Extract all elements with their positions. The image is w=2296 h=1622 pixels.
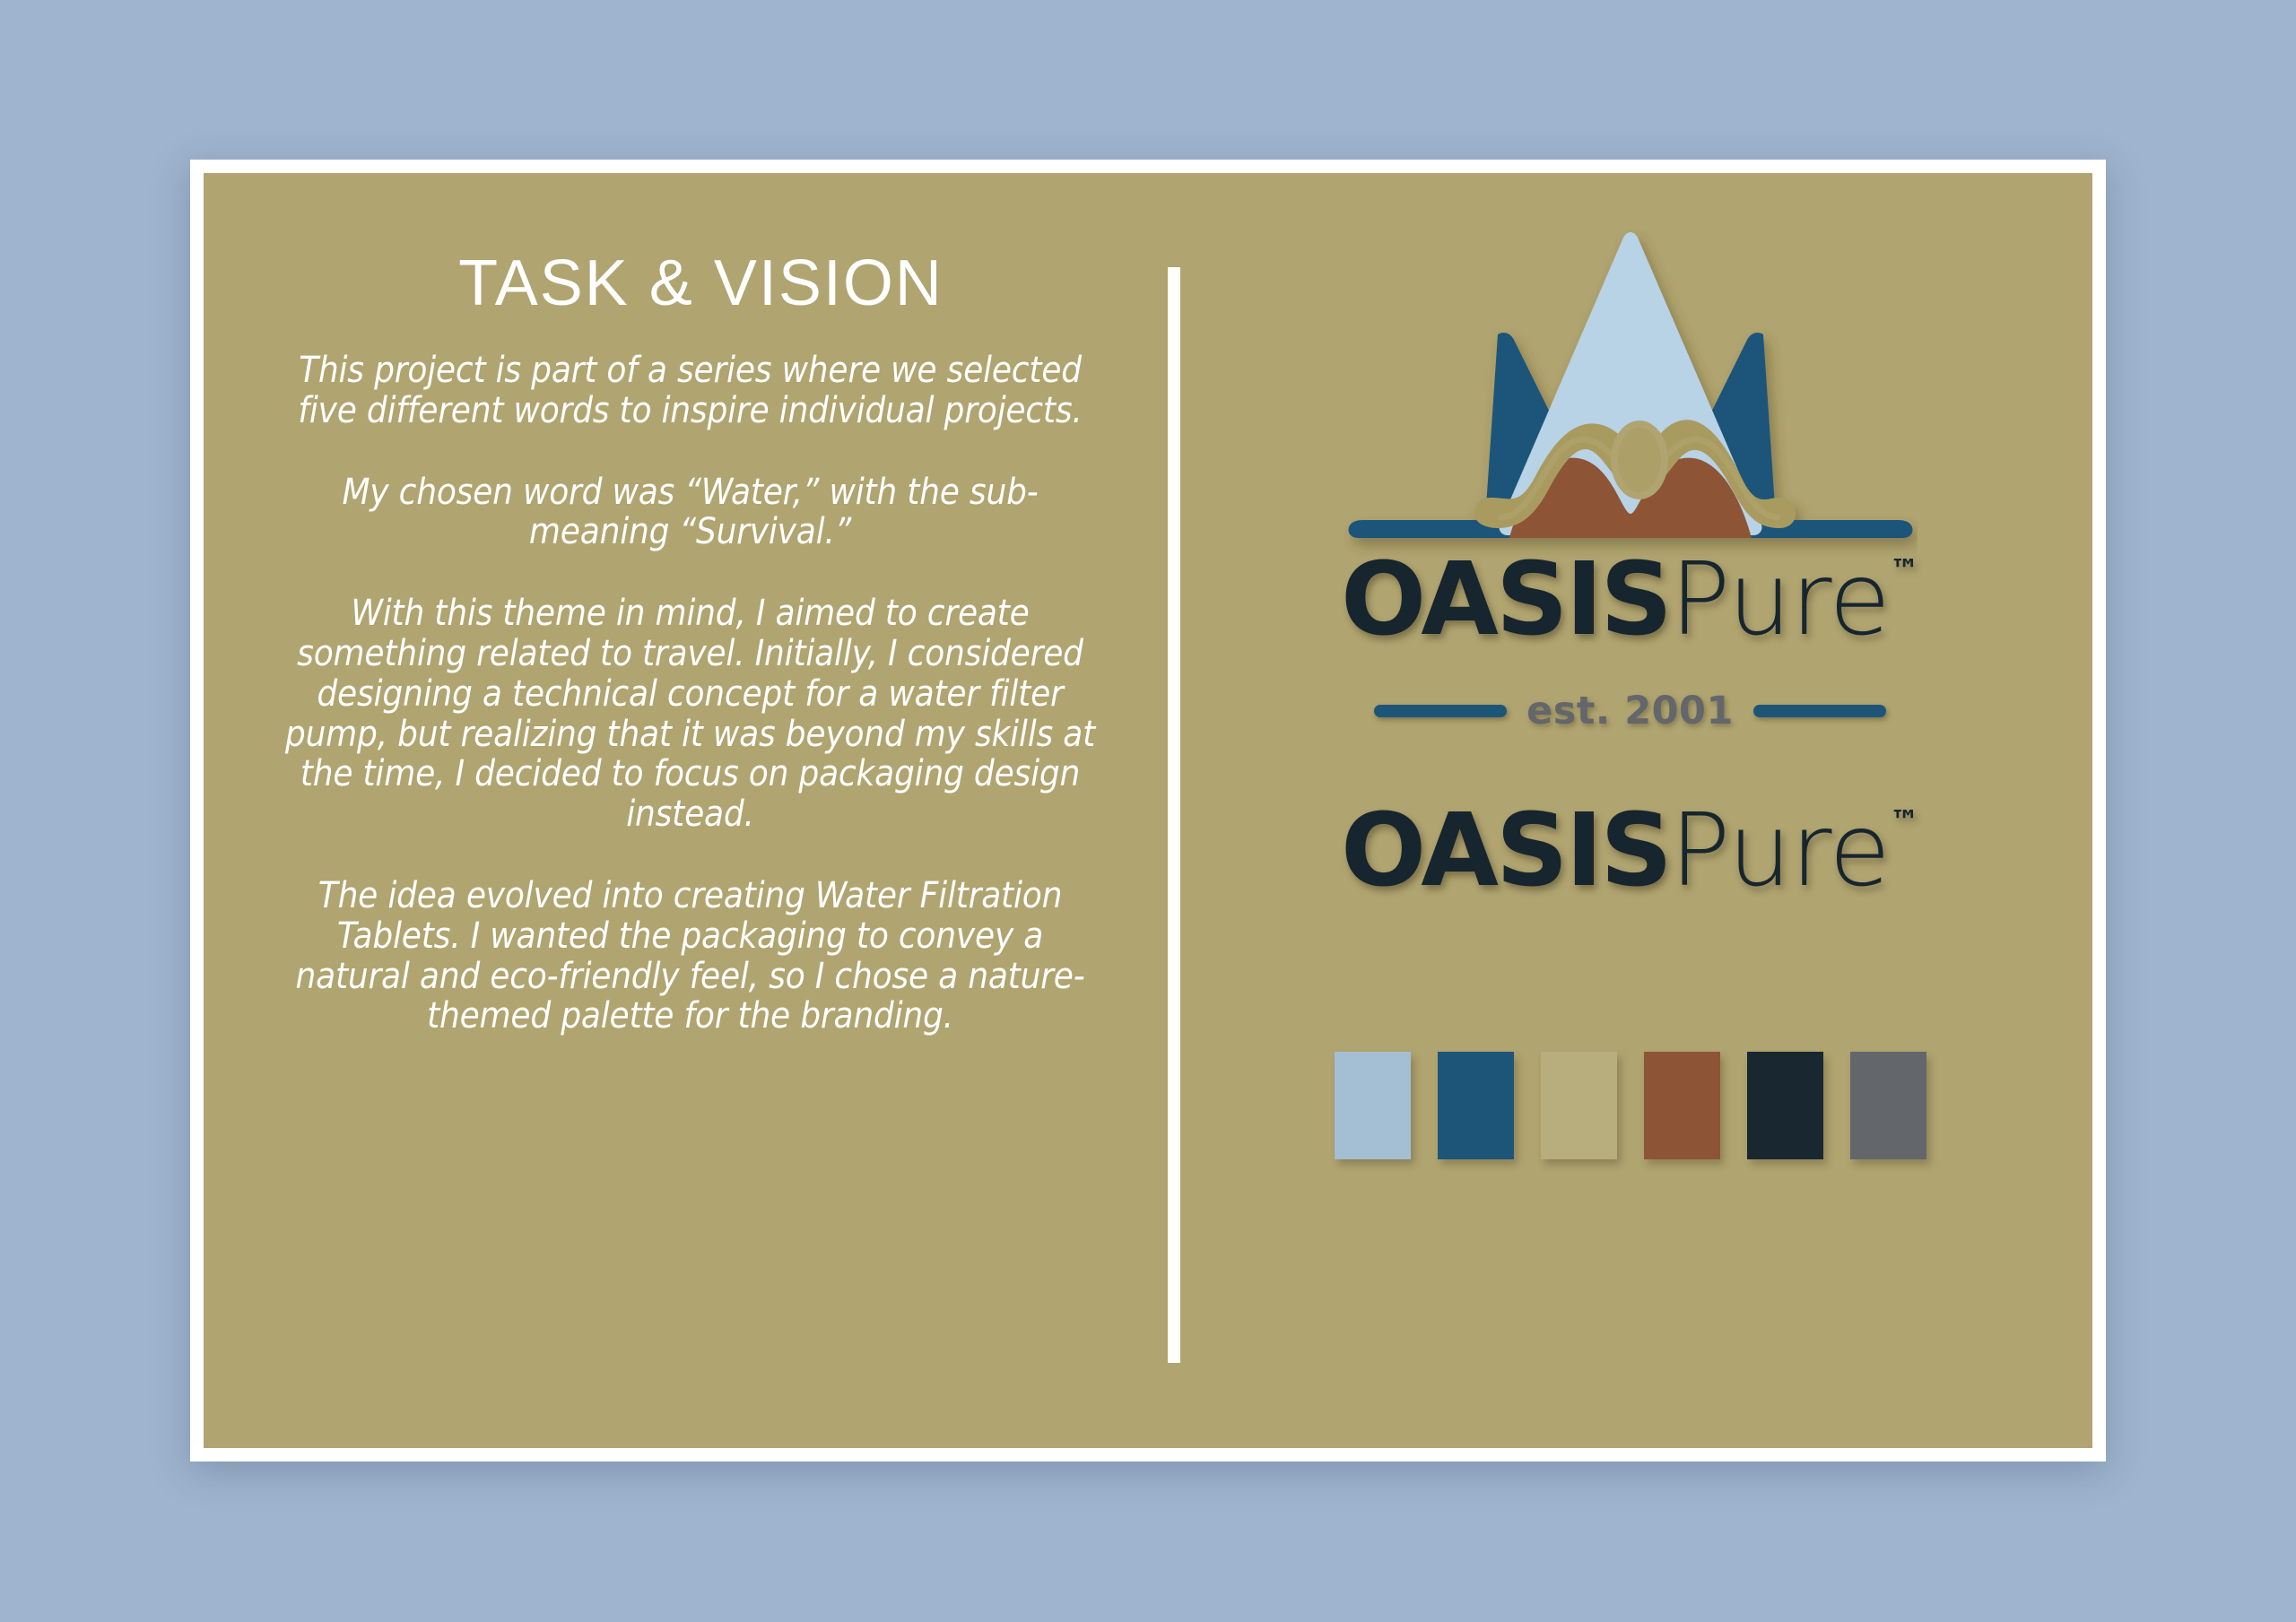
wordmark-pure-text: Pure (1670, 542, 1890, 658)
est-rule-left (1374, 705, 1507, 717)
wordmark-pure-text-alt: Pure (1670, 793, 1890, 909)
branding-column: OASISPure™ est. 2001 OASISPure™ (1168, 173, 2092, 1448)
wordmark-oasis-text-alt: OASIS (1341, 793, 1670, 909)
task-and-vision-column: TASK & VISION This project is part of a … (204, 173, 1168, 1448)
page-title: TASK & VISION (204, 247, 1168, 320)
paragraph-2: My chosen word was “Water,” with the sub… (277, 473, 1103, 553)
paragraph-3: With this theme in mind, I aimed to crea… (277, 594, 1103, 835)
palette-swatch-sand-beige (1541, 1052, 1617, 1159)
palette-swatch-ink-navy (1747, 1052, 1823, 1159)
palette-swatch-deep-blue (1438, 1052, 1514, 1159)
palette-swatch-light-blue (1335, 1052, 1411, 1159)
wordmark-oasis-text: OASIS (1341, 542, 1670, 658)
trademark-icon-alt: ™ (1890, 803, 1919, 838)
color-palette (1335, 1052, 1926, 1159)
secondary-wordmark: OASISPure™ (1335, 801, 1926, 901)
mountain-oasis-logo-mark-icon (1344, 229, 1918, 565)
sun-ellipse-highlight (1618, 428, 1661, 492)
established-row: est. 2001 (1335, 689, 1926, 733)
palette-swatch-rust-brown (1644, 1052, 1720, 1159)
body-copy: This project is part of a series where w… (204, 351, 1168, 1037)
slide-inner-panel: TASK & VISION This project is part of a … (204, 173, 2092, 1448)
est-rule-right (1753, 705, 1886, 717)
primary-wordmark: OASISPure™ (1335, 550, 1926, 650)
established-label: est. 2001 (1526, 689, 1734, 733)
presentation-slide-card: TASK & VISION This project is part of a … (190, 160, 2106, 1462)
paragraph-1: This project is part of a series where w… (277, 351, 1103, 431)
palette-swatch-slate-gray (1850, 1052, 1926, 1159)
paragraph-4: The idea evolved into creating Water Fil… (277, 876, 1103, 1037)
trademark-icon: ™ (1890, 552, 1919, 587)
